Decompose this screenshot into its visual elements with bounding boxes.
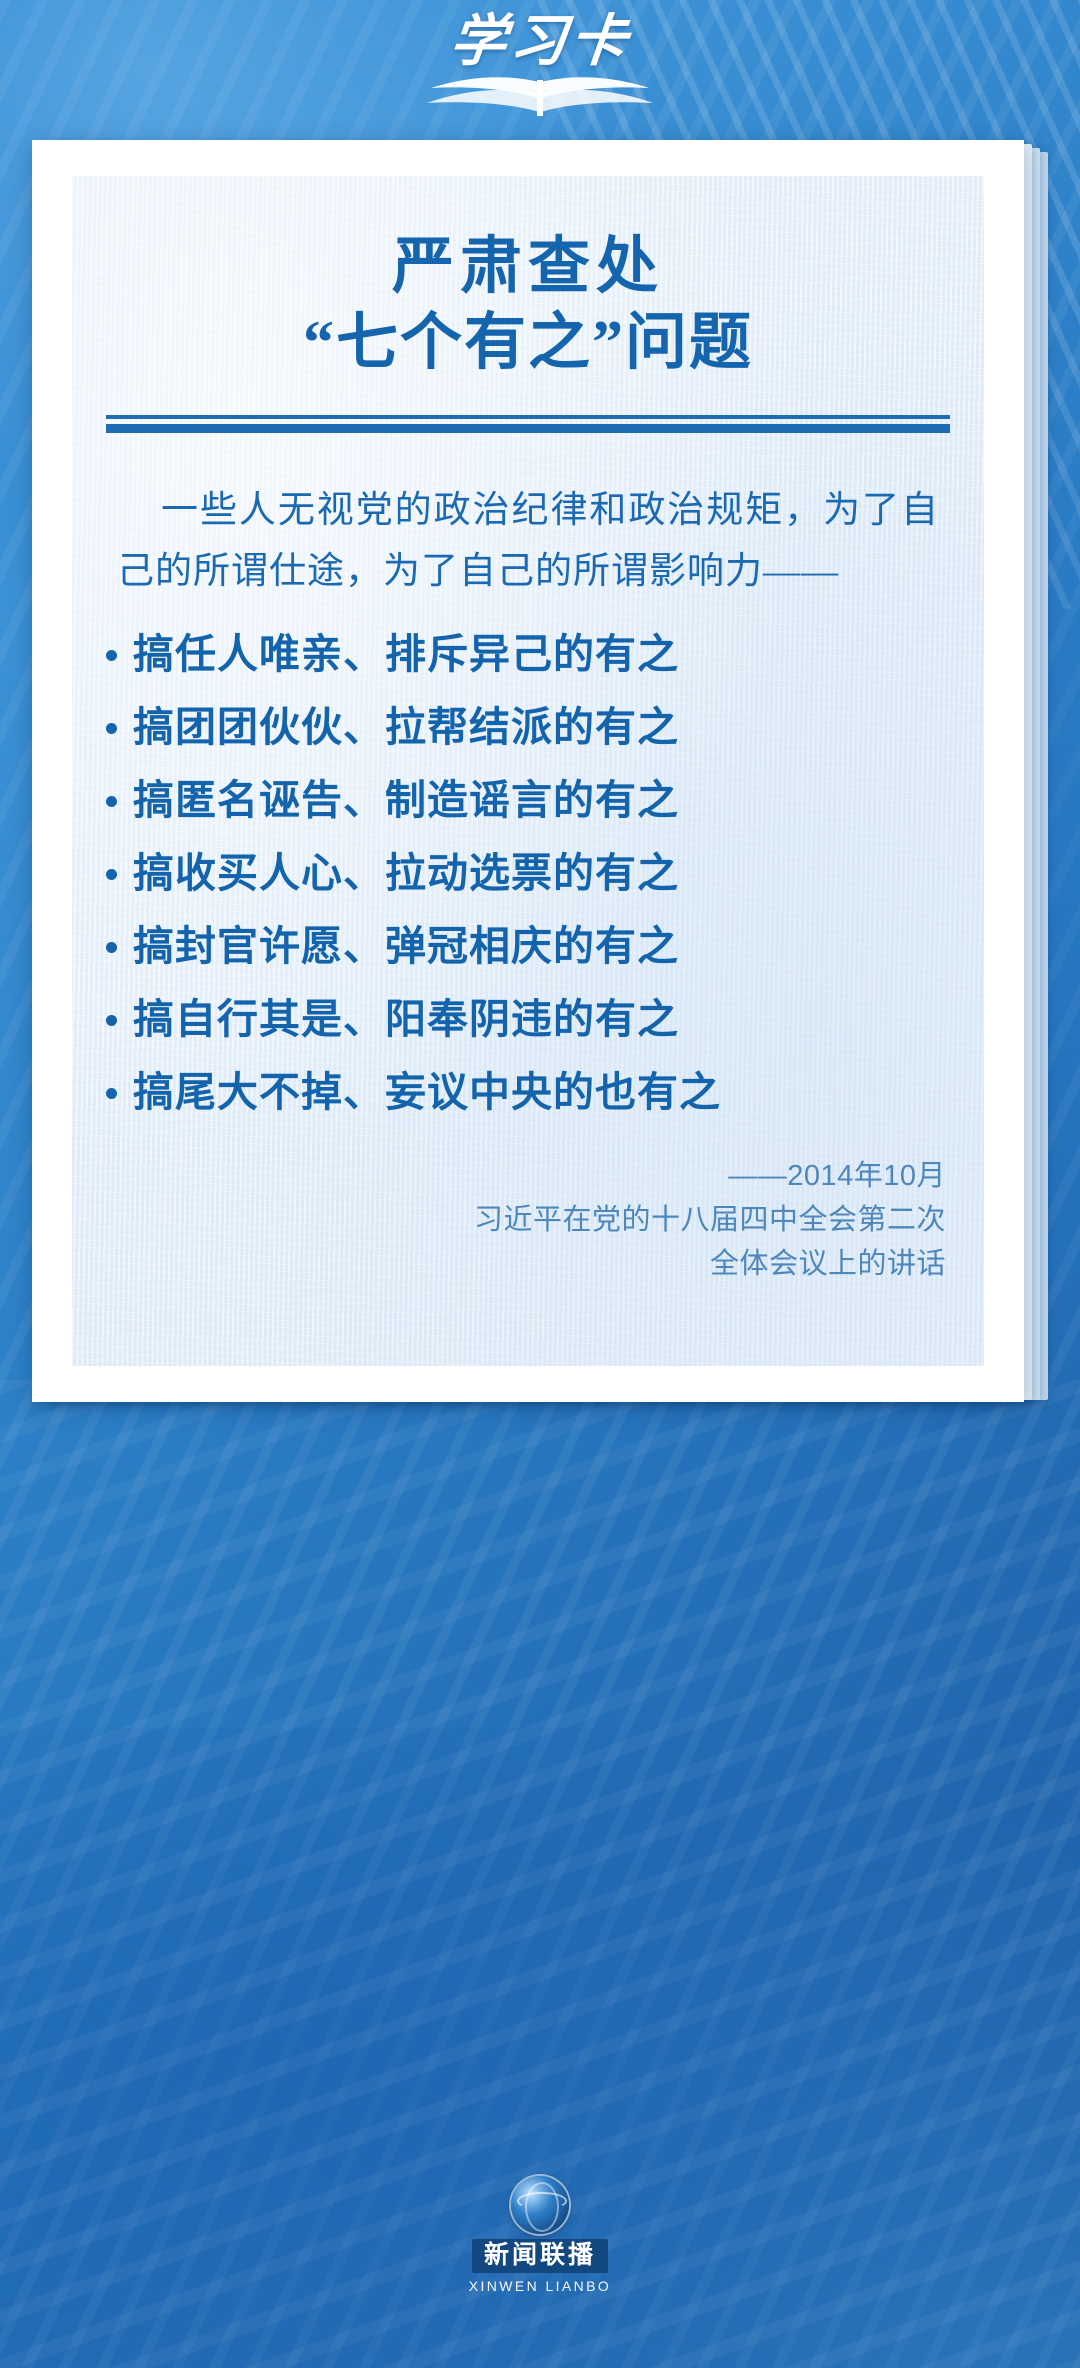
bullet-dot-icon [106,723,117,734]
list-item-label: 搞收买人心、拉动选票的有之 [133,852,679,895]
list-item: 搞封官许愿、弹冠相庆的有之 [106,925,984,968]
list-item: 搞团团伙伙、拉帮结派的有之 [106,706,984,749]
list-item: 搞收买人心、拉动选票的有之 [106,852,984,895]
bullet-dot-icon [106,1015,117,1026]
channel-name-en: XINWEN LIANBO [469,2279,611,2293]
list-item-label: 搞尾大不掉、妄议中央的也有之 [133,1071,721,1114]
bullet-dot-icon [106,650,117,661]
globe-icon [511,2176,569,2234]
bullet-list: 搞任人唯亲、排斥异己的有之 搞团团伙伙、拉帮结派的有之 搞匿名诬告、制造谣言的有… [106,633,984,1114]
list-item: 搞自行其是、阳奉阴违的有之 [106,998,984,1041]
bullet-dot-icon [106,869,117,880]
open-book-icon [425,72,655,123]
brand-title: 学习卡 [447,14,633,70]
attribution-source-1: 习近平在党的十八届四中全会第二次 [106,1198,946,1242]
page-title-line-2: “七个有之”问题 [106,306,950,382]
list-item: 搞任人唯亲、排斥异己的有之 [106,633,984,676]
card-paper: 严肃查处 “七个有之”问题 一些人无视党的政治纪律和政治规矩，为了自己的所谓仕途… [72,176,984,1366]
list-item: 搞尾大不掉、妄议中央的也有之 [106,1071,984,1114]
list-item-label: 搞团团伙伙、拉帮结派的有之 [133,706,679,749]
attribution-date: ——2014年10月 [106,1154,946,1198]
bullet-dot-icon [106,942,117,953]
list-item-label: 搞任人唯亲、排斥异己的有之 [133,633,679,676]
channel-logo: 新闻联播 XINWEN LIANBO [450,2176,630,2308]
divider-thick-rule [106,424,950,433]
title-divider [106,415,950,433]
bullet-dot-icon [106,1088,117,1099]
list-item-label: 搞自行其是、阳奉阴违的有之 [133,998,679,1041]
study-card: 严肃查处 “七个有之”问题 一些人无视党的政治纪律和政治规矩，为了自己的所谓仕途… [32,140,1024,1402]
bullet-dot-icon [106,796,117,807]
attribution: ——2014年10月 习近平在党的十八届四中全会第二次 全体会议上的讲话 [106,1154,946,1286]
page-title-line-1: 严肃查处 [106,230,950,306]
intro-paragraph: 一些人无视党的政治纪律和政治规矩，为了自己的所谓仕途，为了自己的所谓影响力—— [117,481,939,602]
attribution-source-2: 全体会议上的讲话 [106,1242,946,1286]
list-item-label: 搞封官许愿、弹冠相庆的有之 [133,925,679,968]
brand-logo: 学习卡 [0,14,1080,130]
channel-name-cn: 新闻联播 [472,2239,608,2273]
card-content: 严肃查处 “七个有之”问题 一些人无视党的政治纪律和政治规矩，为了自己的所谓仕途… [72,230,984,1286]
page-title: 严肃查处 “七个有之”问题 [106,230,950,381]
list-item-label: 搞匿名诬告、制造谣言的有之 [133,779,679,822]
list-item: 搞匿名诬告、制造谣言的有之 [106,779,984,822]
poster-root: 学习卡 严肃查处 “七个有之”问题 [0,0,1080,2368]
